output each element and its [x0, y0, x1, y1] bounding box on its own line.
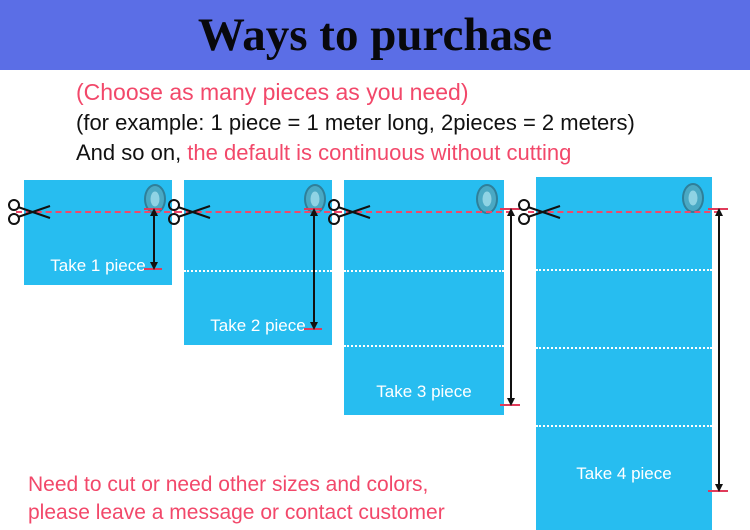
header-banner: Ways to purchase [0, 0, 750, 70]
measure-arrow-icon [505, 208, 517, 406]
roll-1-measure [140, 208, 164, 280]
roll-core-icon [682, 183, 704, 213]
page-title: Ways to purchase [198, 12, 552, 59]
scissors-icon [518, 199, 562, 225]
roll-4-perforation-3 [536, 425, 712, 427]
roll-3-measure [500, 208, 524, 412]
footer-line-2: please leave a message or contact custom… [28, 499, 728, 526]
roll-3-perforation-1 [344, 270, 504, 272]
scissors-icon [168, 199, 212, 225]
measure-arrow-icon [148, 208, 160, 270]
roll-3-perforation-2 [344, 345, 504, 347]
measure-arrow-icon [713, 208, 725, 492]
intro-line-1: (Choose as many pieces as you need) [0, 72, 750, 107]
intro-line-3: And so on, the default is continuous wit… [0, 137, 750, 167]
roll-2-measure [300, 208, 324, 340]
purchase-instructions-graphic: Ways to purchase (Choose as many pieces … [0, 0, 750, 530]
roll-core-icon [476, 184, 498, 214]
intro-line-3-black: And so on, [76, 140, 181, 165]
footer-text-block: Need to cut or need other sizes and colo… [28, 471, 728, 526]
footer-line-1: Need to cut or need other sizes and colo… [28, 471, 728, 498]
measure-arrow-icon [308, 208, 320, 330]
roll-4-perforation-1 [536, 269, 712, 271]
roll-4-perforation-2 [536, 347, 712, 349]
roll-3-label: Take 3 piece [344, 382, 504, 402]
roll-4-measure [708, 208, 732, 498]
intro-text-block: (Choose as many pieces as you need) (for… [0, 72, 750, 166]
intro-line-2: (for example: 1 piece = 1 meter long, 2p… [0, 107, 750, 137]
scissors-icon [8, 199, 52, 225]
intro-line-3-red: the default is continuous without cuttin… [181, 140, 571, 165]
scissors-icon [328, 199, 372, 225]
